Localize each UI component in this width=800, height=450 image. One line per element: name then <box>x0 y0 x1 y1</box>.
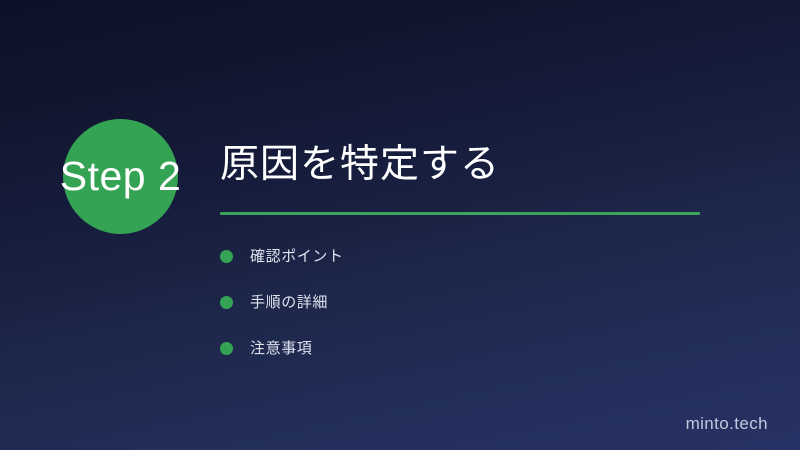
bullet-list: 確認ポイント 手順の詳細 注意事項 <box>220 233 720 371</box>
footer-brand: minto.tech <box>686 415 768 432</box>
step-badge: Step 2 <box>0 119 240 231</box>
bullet-dot-icon <box>220 342 233 355</box>
list-item: 注意事項 <box>220 325 720 371</box>
list-item: 確認ポイント <box>220 233 720 279</box>
title-block: 原因を特定する <box>220 139 740 215</box>
bullet-dot-icon <box>220 250 233 263</box>
title-divider <box>220 212 700 215</box>
list-item: 手順の詳細 <box>220 279 720 325</box>
list-item-label: 注意事項 <box>250 341 312 356</box>
slide-canvas: Step 2 原因を特定する 確認ポイント 手順の詳細 注意事項 minto.t… <box>0 0 800 450</box>
list-item-label: 確認ポイント <box>250 249 344 264</box>
list-item-label: 手順の詳細 <box>250 295 328 310</box>
page-title: 原因を特定する <box>220 139 740 191</box>
step-label: Step 2 <box>0 119 240 234</box>
bullet-dot-icon <box>220 296 233 309</box>
